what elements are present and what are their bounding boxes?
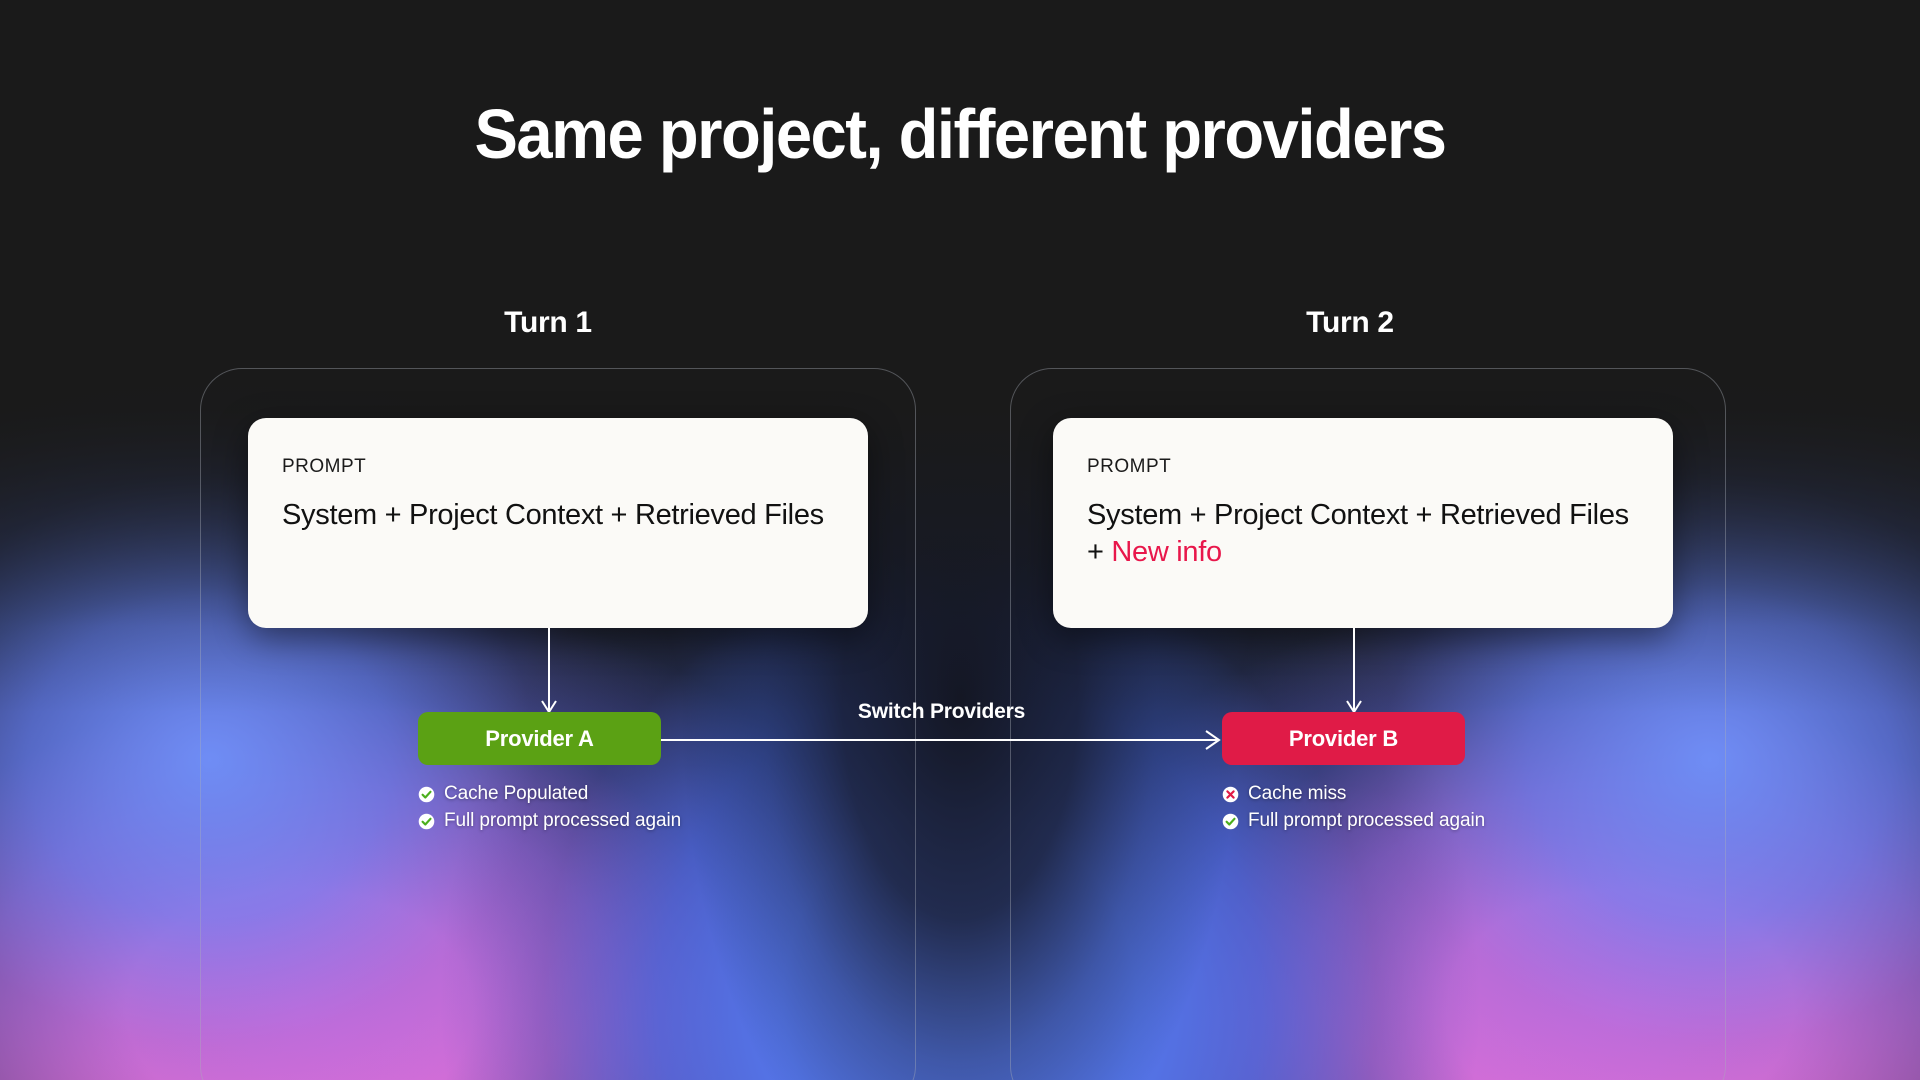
provider-b-label: Provider B [1289, 726, 1398, 752]
status-label: Full prompt processed again [444, 810, 681, 832]
check-circle-icon [1222, 813, 1239, 830]
status-label: Cache Populated [444, 783, 588, 805]
provider-b-button[interactable]: Provider B [1222, 712, 1465, 765]
status-list-turn-2: Cache miss Full prompt processed again [1222, 783, 1485, 832]
status-label: Full prompt processed again [1248, 810, 1485, 832]
prompt-eyebrow: PROMPT [1087, 456, 1639, 478]
status-label: Cache miss [1248, 783, 1346, 805]
status-list-turn-1: Cache Populated Full prompt processed ag… [418, 783, 681, 832]
provider-a-label: Provider A [485, 726, 593, 752]
status-item: Full prompt processed again [1222, 810, 1485, 832]
turn-1-label: Turn 1 [398, 306, 698, 340]
prompt-body: System + Project Context + Retrieved Fil… [282, 497, 834, 534]
prompt-text-highlight: New info [1111, 536, 1221, 568]
check-circle-icon [418, 813, 435, 830]
status-item: Cache Populated [418, 783, 681, 805]
x-circle-icon [1222, 786, 1239, 803]
prompt-text: System + Project Context + Retrieved Fil… [282, 499, 824, 531]
prompt-body: System + Project Context + Retrieved Fil… [1087, 497, 1639, 571]
provider-a-button[interactable]: Provider A [418, 712, 661, 765]
turn-2-label: Turn 2 [1200, 306, 1500, 340]
prompt-eyebrow: PROMPT [282, 456, 834, 478]
check-circle-icon [418, 786, 435, 803]
page-title: Same project, different providers [67, 98, 1853, 172]
prompt-card-turn-2: PROMPT System + Project Context + Retrie… [1053, 418, 1673, 628]
status-item: Full prompt processed again [418, 810, 681, 832]
arrow-down-turn-2-icon [1343, 628, 1365, 720]
switch-providers-label: Switch Providers [661, 700, 1222, 724]
prompt-card-turn-1: PROMPT System + Project Context + Retrie… [248, 418, 868, 628]
diagram-canvas: Same project, different providers Turn 1… [0, 0, 1920, 1080]
arrow-down-turn-1-icon [538, 628, 560, 720]
status-item: Cache miss [1222, 783, 1485, 805]
